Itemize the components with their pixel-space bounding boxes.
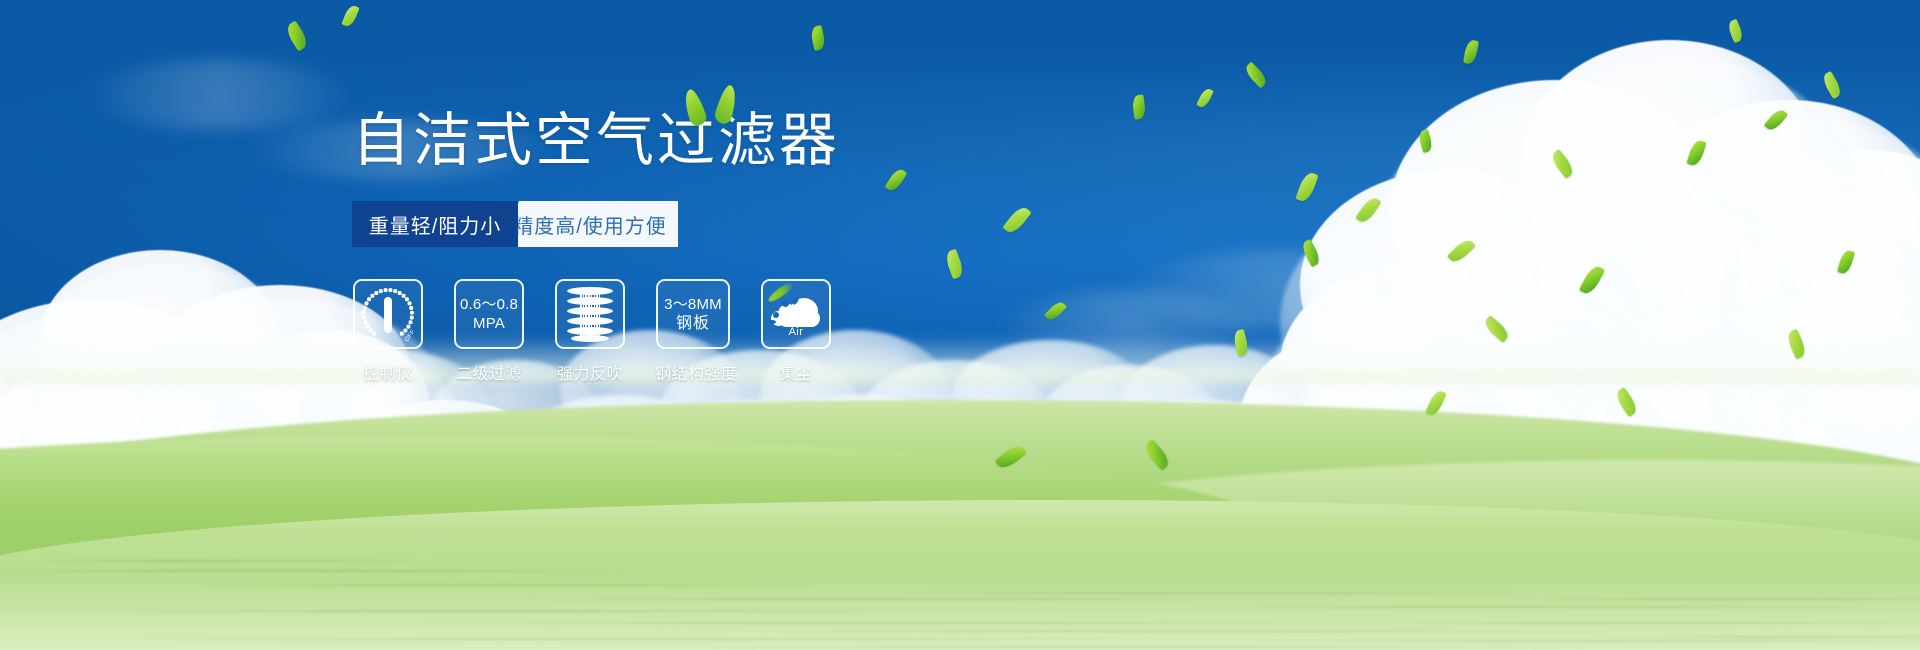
gauge-tick <box>409 321 412 324</box>
feature-list: NO OFF 控制仪 0.6～0.8 MPA 二级过滤 <box>352 279 1052 384</box>
tag-strip: 重量轻/阻力小 精度高/使用方便 <box>352 201 678 247</box>
icon-box: 3～8MM 钢板 <box>656 279 730 349</box>
gauge-tick <box>379 289 382 292</box>
gauge-tick <box>398 291 401 294</box>
banner-content: 自洁式空气过滤器 重量轻/阻力小 精度高/使用方便 NO OFF 控制仪 <box>352 105 1052 384</box>
gauge-tick <box>407 325 410 328</box>
title-row: 自洁式空气过滤器 <box>352 105 1052 181</box>
hero-banner: 自洁式空气过滤器 重量轻/阻力小 精度高/使用方便 NO OFF 控制仪 <box>0 0 1920 650</box>
feature-label: 钢结构强度 <box>655 360 731 384</box>
cloud-puff <box>90 60 350 130</box>
gauge-tick <box>410 311 413 314</box>
cartridge-ring <box>567 307 613 315</box>
filter-cartridge-icon <box>567 287 613 341</box>
gauge-needle-icon <box>384 297 392 333</box>
gauge-tick <box>400 332 403 335</box>
feature-label: 集尘 <box>760 360 832 384</box>
feature-label: 强力反吹 <box>554 360 626 384</box>
cartridge-ring <box>567 287 613 295</box>
feature-item-strong-backblow[interactable]: 强力反吹 <box>554 279 626 384</box>
steel-thickness-line1: 3～8MM <box>664 295 722 314</box>
icon-box: 0.6～0.8 MPA <box>454 279 524 349</box>
gauge-tick <box>371 294 374 297</box>
feature-item-controller[interactable]: NO OFF 控制仪 <box>352 279 424 384</box>
cartridge-ring <box>571 335 609 342</box>
air-cloud-icon: Air <box>768 292 824 336</box>
gauge-tick <box>365 302 368 305</box>
gauge-tick <box>367 298 370 301</box>
icon-box: NO OFF <box>353 279 423 349</box>
gauge-tick <box>369 329 372 332</box>
gauge-tick <box>384 288 387 291</box>
gauge-tick <box>410 316 413 319</box>
gauge-tick <box>410 306 413 309</box>
feature-item-dust-collection[interactable]: Air 集尘 <box>760 279 832 384</box>
steel-thickness-line2: 钢板 <box>676 314 710 333</box>
gauge-tick <box>375 291 378 294</box>
field-haze <box>0 530 1920 650</box>
gauge-tick <box>393 289 396 292</box>
feature-item-steel-strength[interactable]: 3～8MM 钢板 钢结构强度 <box>655 279 731 384</box>
leaf-streak-icon <box>767 280 796 304</box>
cartridge-ring <box>567 327 613 335</box>
gauge-tick <box>404 329 407 332</box>
icon-box <box>555 279 625 349</box>
gauge-icon: NO OFF <box>358 284 418 344</box>
gauge-tick <box>408 302 411 305</box>
feature-label: 二级过滤 <box>453 360 525 384</box>
feature-item-two-stage-filtration[interactable]: 0.6～0.8 MPA 二级过滤 <box>453 279 525 384</box>
gauge-tick <box>405 298 408 301</box>
gauge-tick <box>373 332 376 335</box>
cartridge-ring <box>567 317 613 325</box>
tag-lightweight-lowresistance: 重量轻/阻力小 <box>352 201 518 247</box>
gauge-tick <box>366 325 369 328</box>
air-label: Air <box>768 326 824 338</box>
pressure-value-line1: 0.6～0.8 <box>460 295 518 314</box>
feature-label: 控制仪 <box>352 360 424 384</box>
icon-box: Air <box>761 279 831 349</box>
gauge-tick <box>389 288 392 291</box>
pressure-value-line2: MPA <box>473 314 505 333</box>
cartridge-ring <box>567 297 613 305</box>
gauge-tick <box>364 321 367 324</box>
tag-precision-easyuse: 精度高/使用方便 <box>502 201 678 247</box>
